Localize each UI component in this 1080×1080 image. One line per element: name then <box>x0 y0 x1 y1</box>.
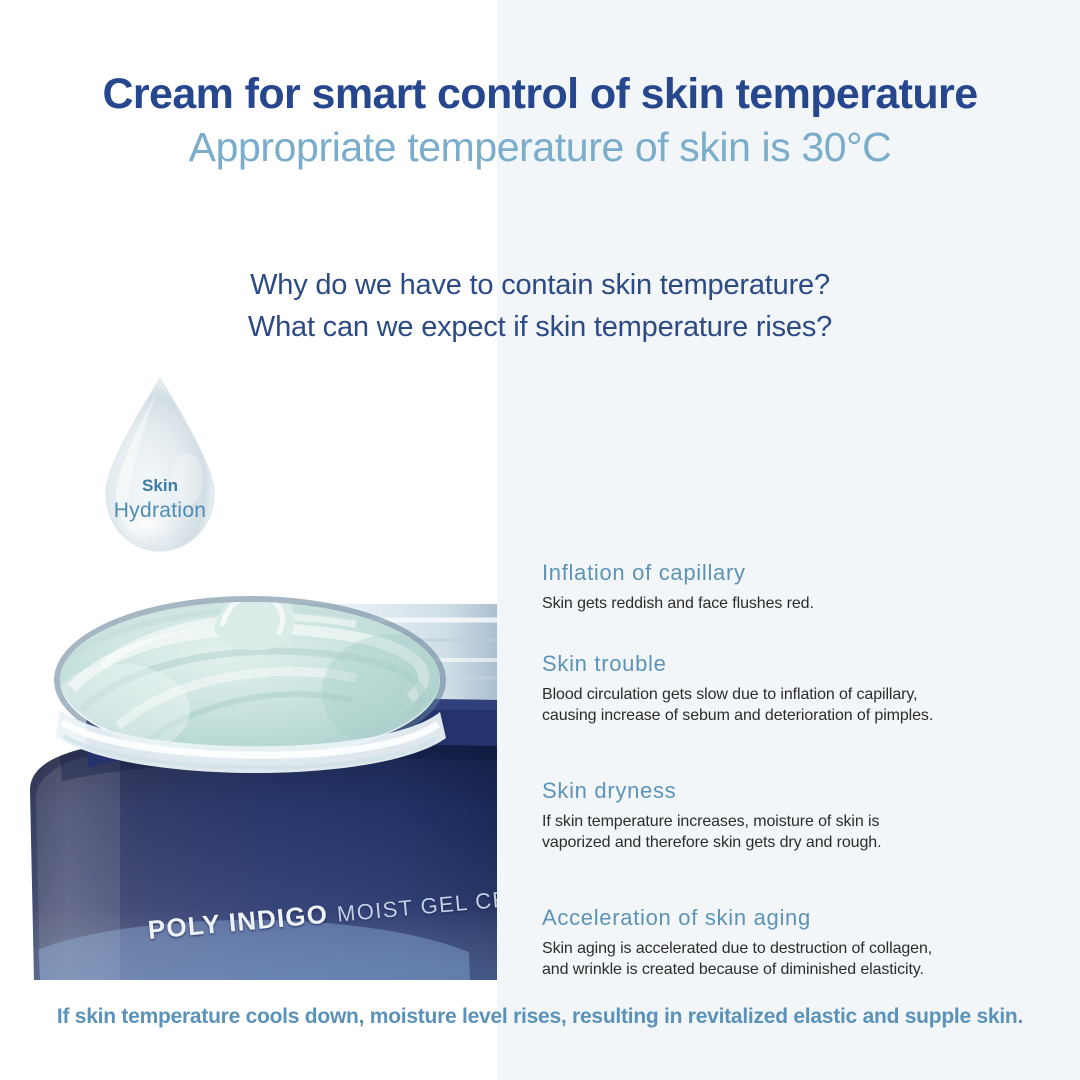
effect-body-line: and wrinkle is created because of dimini… <box>542 959 1042 980</box>
effect-block-skin-trouble: Skin trouble Blood circulation gets slow… <box>542 651 1042 726</box>
effect-body: If skin temperature increases, moisture … <box>542 811 1042 853</box>
page-title: Cream for smart control of skin temperat… <box>0 70 1080 119</box>
effect-block-inflation-of-capillary: Inflation of capillary Skin gets reddish… <box>542 560 1042 614</box>
bottom-banner-text: If skin temperature cools down, moisture… <box>0 1005 1080 1029</box>
page-subtitle: Appropriate temperature of skin is 30°C <box>0 124 1080 171</box>
effect-body-line: vaporized and therefore skin gets dry an… <box>542 832 1042 853</box>
question-block: Why do we have to contain skin temperatu… <box>0 264 1080 348</box>
effect-body-line: causing increase of sebum and deteriorat… <box>542 705 1042 726</box>
effect-block-skin-dryness: Skin dryness If skin temperature increas… <box>542 778 1042 853</box>
effect-body: Blood circulation gets slow due to infla… <box>542 684 1042 726</box>
effect-body-line: If skin temperature increases, moisture … <box>542 811 1042 832</box>
infographic-poster: Cream for smart control of skin temperat… <box>0 0 1080 1080</box>
effect-body-line: Skin aging is accelerated due to destruc… <box>542 938 1042 959</box>
effect-heading: Skin dryness <box>542 778 1042 804</box>
effect-block-acceleration-of-skin-aging: Acceleration of skin aging Skin aging is… <box>542 905 1042 980</box>
question-line-1: Why do we have to contain skin temperatu… <box>0 264 1080 306</box>
effect-body: Skin gets reddish and face flushes red. <box>542 593 1042 614</box>
cream-jar-illustration <box>0 560 497 980</box>
product-jar-image: POLY INDIGOMOIST GEL CREAM <box>0 560 497 980</box>
effect-heading: Inflation of capillary <box>542 560 1042 586</box>
effect-body-line: Blood circulation gets slow due to infla… <box>542 684 1042 705</box>
effect-body: Skin aging is accelerated due to destruc… <box>542 938 1042 980</box>
skin-hydration-droplet: Skin Hydration <box>95 375 225 555</box>
effects-list: Inflation of capillary Skin gets reddish… <box>542 560 1042 980</box>
effect-heading: Acceleration of skin aging <box>542 905 1042 931</box>
question-line-2: What can we expect if skin temperature r… <box>0 306 1080 348</box>
effect-heading: Skin trouble <box>542 651 1042 677</box>
water-drop-icon <box>95 375 225 555</box>
effect-body-line: Skin gets reddish and face flushes red. <box>542 593 1042 614</box>
